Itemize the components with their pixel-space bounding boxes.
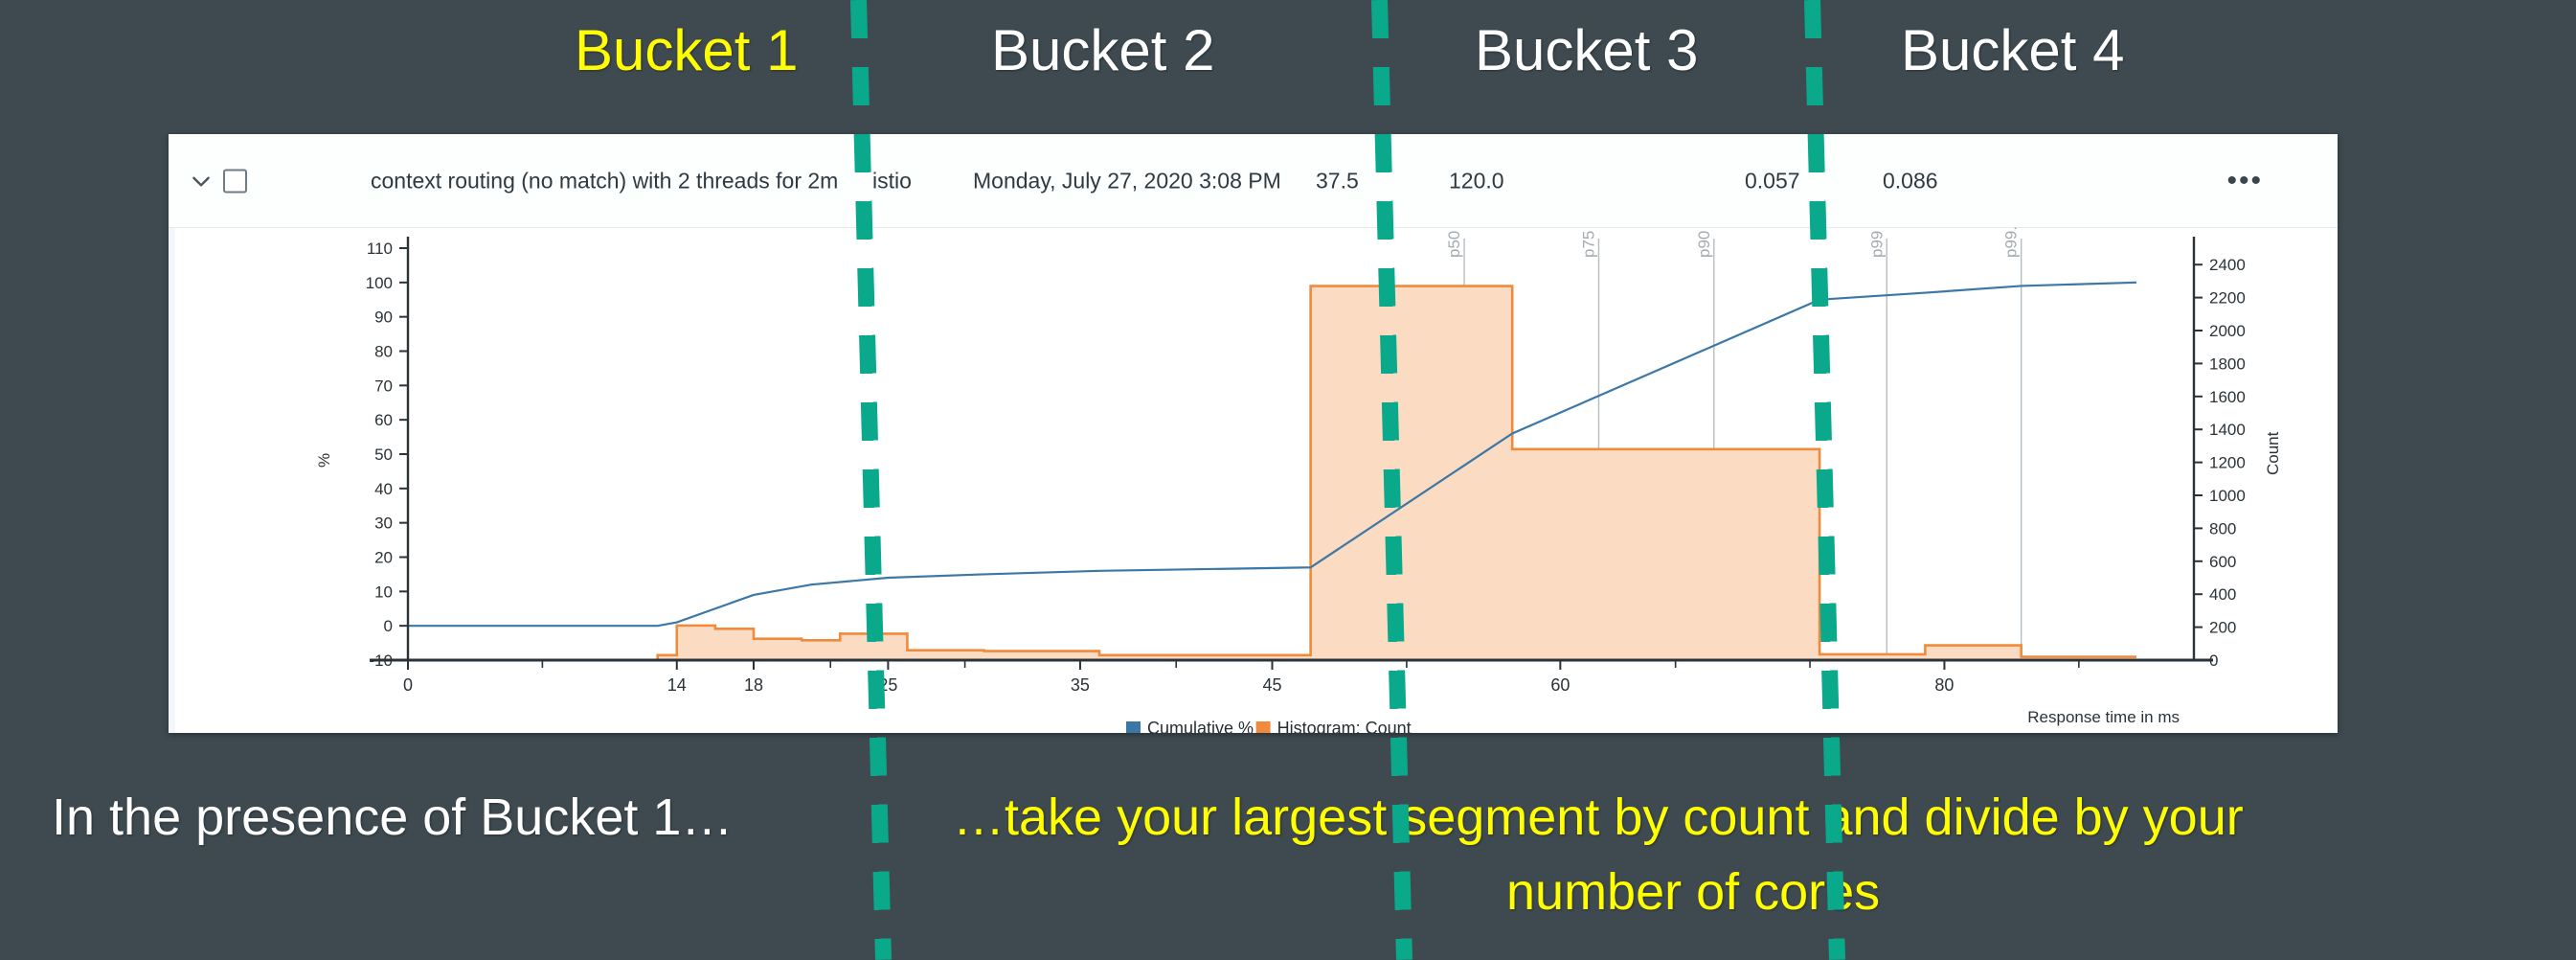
y2-tick-label: 200	[2209, 619, 2236, 637]
y-tick-label: 70	[374, 377, 393, 395]
x-tick-label: 18	[744, 675, 763, 695]
percentile-label-p90: p90	[1695, 231, 1713, 258]
cumulative-line	[408, 283, 2136, 626]
legend-label-0: Cumulative %	[1147, 719, 1254, 733]
result-card: context routing (no match) with 2 thread…	[169, 134, 2338, 733]
caption-line-3: number of cores	[1506, 862, 1880, 922]
y-tick-label: 60	[374, 411, 393, 429]
row-label: istio	[872, 168, 912, 194]
y-tick-label: 110	[367, 240, 393, 258]
caption-line-2: …take your largest segment by count and …	[953, 788, 2244, 847]
x-axis-title: Response time in ms	[2027, 708, 2180, 726]
chevron-down-icon[interactable]	[189, 169, 214, 194]
y-tick-label: 10	[374, 583, 393, 601]
legend-swatch-0	[1126, 721, 1141, 733]
row-timestamp: Monday, July 27, 2020 3:08 PM	[973, 168, 1281, 194]
y2-tick-label: 600	[2209, 553, 2236, 571]
row-metric-a: 37.5	[1316, 168, 1359, 194]
x-tick-label: 45	[1262, 675, 1281, 695]
y-tick-label: 40	[374, 480, 393, 498]
y2-tick-label: 800	[2209, 519, 2236, 537]
x-tick-label: 14	[667, 675, 687, 695]
y-tick-label: 20	[374, 549, 393, 567]
bucket-label-3: Bucket 3	[1475, 17, 1698, 84]
select-row-checkbox[interactable]	[223, 169, 247, 193]
y2-tick-label: 1400	[2209, 421, 2246, 439]
x-tick-label: 60	[1550, 675, 1570, 695]
bucket-label-4: Bucket 4	[1901, 17, 2124, 84]
row-metric-b: 120.0	[1449, 168, 1504, 194]
y-tick-label: 80	[374, 343, 393, 361]
caption-line-1: In the presence of Bucket 1…	[52, 788, 733, 847]
row-overflow-menu-icon[interactable]: •••	[2226, 165, 2263, 197]
x-tick-label: 0	[403, 675, 413, 695]
row-title: context routing (no match) with 2 thread…	[371, 168, 838, 194]
histogram-chart: p50p75p90p99p99.911010090807060504030201…	[169, 227, 2338, 733]
y2-tick-label: 2400	[2209, 256, 2246, 274]
chart-canvas: p50p75p90p99p99.911010090807060504030201…	[169, 227, 2338, 733]
y2-tick-label: 400	[2209, 585, 2236, 604]
result-row-header[interactable]: context routing (no match) with 2 thread…	[169, 134, 2338, 228]
percentile-label-p99: p99	[1867, 231, 1886, 258]
percentile-label-p50: p50	[1445, 231, 1463, 258]
y-tick-label: 90	[374, 309, 393, 327]
y2-tick-label: 1800	[2209, 354, 2246, 373]
bucket-label-2: Bucket 2	[991, 17, 1214, 84]
y2-tick-label: 1000	[2209, 487, 2246, 505]
y2-axis-title: Count	[2264, 431, 2282, 475]
y-tick-label: 100	[366, 274, 393, 292]
histogram-area	[408, 286, 2136, 660]
y2-tick-label: 0	[2209, 651, 2218, 670]
y2-tick-label: 2000	[2209, 322, 2246, 340]
y2-tick-label: 1600	[2209, 388, 2246, 406]
y-axis-title: %	[315, 453, 333, 468]
row-metric-d: 0.086	[1883, 168, 1938, 194]
row-metric-c: 0.057	[1745, 168, 1800, 194]
x-tick-label: 80	[1934, 675, 1954, 695]
y-tick-label: -10	[369, 651, 393, 670]
bucket-label-bar: Bucket 1Bucket 2Bucket 3Bucket 4	[0, 0, 2576, 113]
y2-tick-label: 1200	[2209, 454, 2246, 472]
y2-tick-label: 2200	[2209, 289, 2246, 308]
y-tick-label: 0	[384, 617, 393, 635]
histogram-outline	[408, 286, 2136, 660]
percentile-label-p99.9: p99.9	[2002, 227, 2021, 258]
y-tick-label: 50	[374, 446, 393, 464]
percentile-label-p75: p75	[1579, 231, 1597, 258]
x-tick-label: 35	[1071, 675, 1090, 695]
legend-swatch-1	[1256, 721, 1271, 733]
bucket-label-1: Bucket 1	[575, 17, 798, 84]
y-tick-label: 30	[374, 514, 393, 533]
